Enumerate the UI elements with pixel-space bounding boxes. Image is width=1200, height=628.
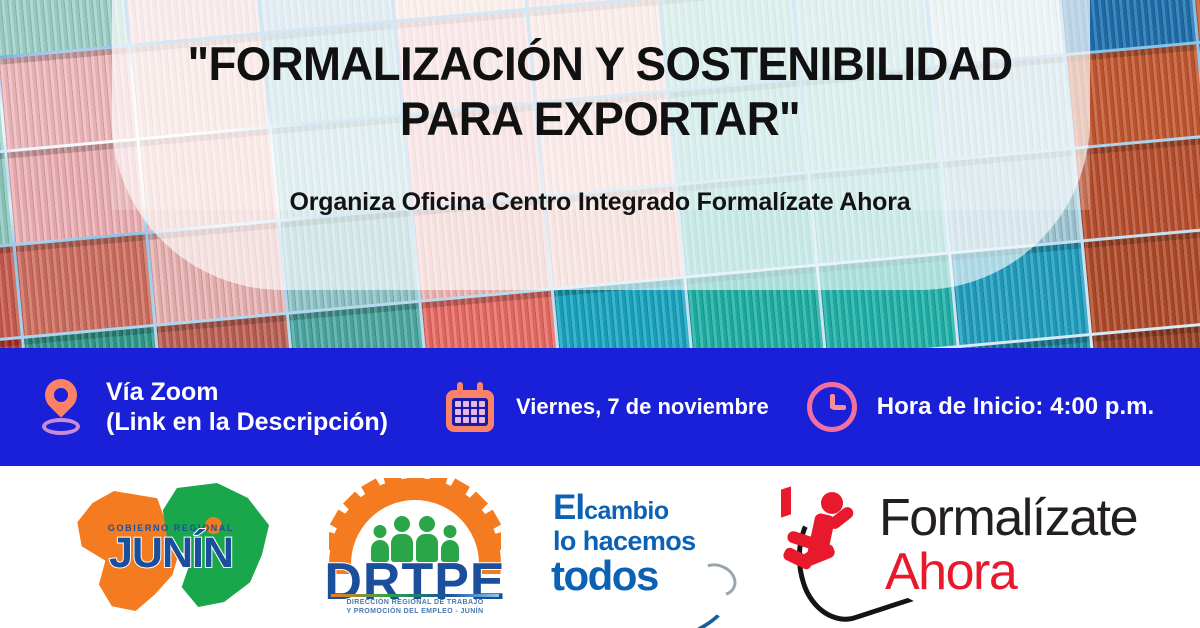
page-subtitle: Organiza Oficina Centro Integrado Formal… — [0, 188, 1200, 217]
drtpe-subtitle: DIRECCIÓN REGIONAL DE TRABAJO Y PROMOCIÓ… — [315, 598, 515, 616]
sponsor-logo-strip: GOBIERNO REGIONAL JUNÍN — [0, 466, 1200, 628]
clock-icon — [807, 382, 857, 432]
date-label: Viernes, 7 de noviembre — [516, 394, 769, 421]
hero-banner: "FORMALIZACIÓN Y SOSTENIBILIDAD PARA EXP… — [0, 0, 1200, 348]
location-line-1: Vía Zoom — [106, 377, 388, 408]
logo-drtpe: DRTPE DIRECCIÓN REGIONAL DE TRABAJO Y PR… — [315, 472, 515, 622]
event-time: Hora de Inicio: 4:00 p.m. — [807, 382, 1154, 432]
location-label: Vía Zoom (Link en la Descripción) — [106, 377, 388, 438]
location-pin-icon — [38, 379, 84, 435]
formalizate-word: Formalízate — [879, 488, 1137, 548]
logo-formalizate-ahora: Formalízate Ahora — [773, 482, 1153, 612]
event-poster: "FORMALIZACIÓN Y SOSTENIBILIDAD PARA EXP… — [0, 0, 1200, 628]
time-label: Hora de Inicio: 4:00 p.m. — [877, 392, 1154, 421]
event-details-bar: Vía Zoom (Link en la Descripción) Vierne… — [0, 348, 1200, 466]
drtpe-divider — [331, 594, 499, 597]
location-line-2: (Link en la Descripción) — [106, 407, 388, 438]
event-date: Viernes, 7 de noviembre — [446, 382, 769, 432]
event-location: Vía Zoom (Link en la Descripción) — [38, 377, 388, 438]
page-title: "FORMALIZACIÓN Y SOSTENIBILIDAD PARA EXP… — [18, 36, 1182, 147]
logo-gobierno-regional-junin: GOBIERNO REGIONAL JUNÍN — [55, 477, 285, 617]
cambio-el: El — [553, 488, 584, 527]
cambio-line-1: Elcambio — [553, 488, 669, 528]
running-person-icon — [781, 490, 867, 598]
logo-el-cambio-lo-hacemos-todos: Elcambio lo hacemos todos — [547, 482, 747, 612]
ahora-word: Ahora — [885, 542, 1016, 602]
cambio-cambio: cambio — [584, 497, 669, 525]
calendar-icon — [446, 382, 494, 432]
hero-text-block: "FORMALIZACIÓN Y SOSTENIBILIDAD PARA EXP… — [0, 0, 1200, 348]
junin-name: JUNÍN — [83, 529, 259, 578]
